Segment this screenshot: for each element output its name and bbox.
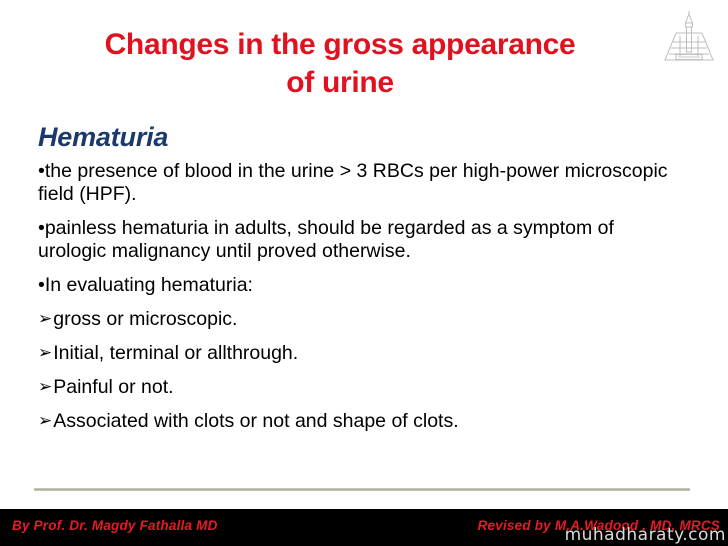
bullet-arrow-icon: ➢: [38, 377, 53, 396]
list-item: ➢Associated with clots or not and shape …: [38, 410, 674, 433]
page-title: Changes in the gross appearance of urine: [34, 26, 646, 102]
bullet-dot-icon: •: [38, 274, 45, 296]
list-item-text: gross or microscopic.: [53, 308, 237, 330]
list-item-text: Painful or not.: [53, 376, 173, 398]
list-item: •painless hematuria in adults, should be…: [38, 217, 674, 263]
bullet-arrow-icon: ➢: [38, 411, 53, 430]
list-item-text: the presence of blood in the urine > 3 R…: [38, 160, 668, 205]
list-item-text: Initial, terminal or allthrough.: [53, 342, 298, 364]
bullet-arrow-icon: ➢: [38, 309, 53, 328]
institution-emblem-icon: [658, 10, 720, 72]
list-item-text: painless hematuria in adults, should be …: [38, 217, 614, 262]
slide-canvas: Changes in the gross appearance of urine: [0, 0, 728, 546]
bullet-dot-icon: •: [38, 160, 45, 182]
title-line-1: Changes in the gross appearance: [34, 26, 646, 64]
list-item-text: Associated with clots or not and shape o…: [53, 410, 458, 432]
list-item: •In evaluating hematuria:: [38, 274, 674, 297]
section-heading: Hematuria: [38, 120, 674, 154]
bullet-dot-icon: •: [38, 217, 45, 239]
list-item: •the presence of blood in the urine > 3 …: [38, 160, 674, 206]
horizontal-divider: [34, 488, 690, 491]
site-watermark: muhadharaty.com: [565, 525, 726, 545]
slide-body: Hematuria •the presence of blood in the …: [38, 120, 674, 444]
list-item: ➢Initial, terminal or allthrough.: [38, 342, 674, 365]
list-item: ➢gross or microscopic.: [38, 308, 674, 331]
bullet-arrow-icon: ➢: [38, 343, 53, 362]
title-line-2: of urine: [34, 64, 646, 102]
footer-author-credit: By Prof. Dr. Magdy Fathalla MD: [12, 518, 218, 533]
list-item-text: In evaluating hematuria:: [45, 274, 253, 296]
list-item: ➢Painful or not.: [38, 376, 674, 399]
